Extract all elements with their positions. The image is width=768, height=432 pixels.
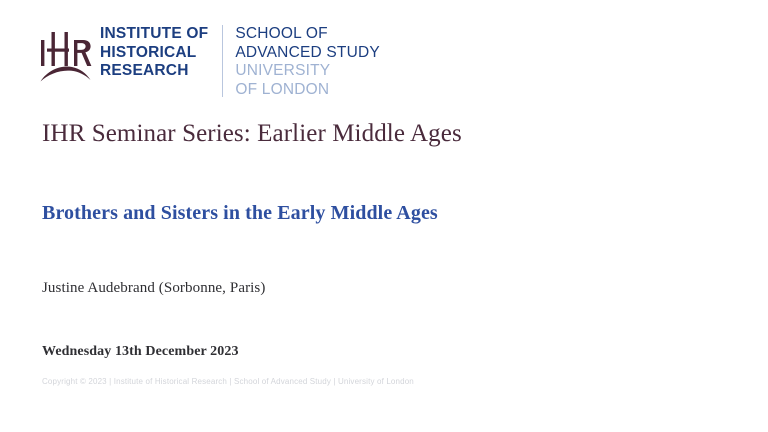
- institute-line-2: HISTORICAL: [100, 44, 208, 63]
- school-line-1: SCHOOL OF: [235, 25, 380, 44]
- ihr-monogram-icon: [38, 26, 94, 86]
- logo-divider: [222, 25, 223, 97]
- logo-wordmarks: INSTITUTE OF HISTORICAL RESEARCH SCHOOL …: [100, 20, 380, 99]
- institute-line-1: INSTITUTE OF: [100, 25, 208, 44]
- talk-title: Brothers and Sisters in the Early Middle…: [42, 200, 438, 226]
- university-line-2: OF LONDON: [235, 81, 380, 100]
- school-wordmark: SCHOOL OF ADVANCED STUDY UNIVERSITY OF L…: [235, 20, 380, 99]
- institute-wordmark: INSTITUTE OF HISTORICAL RESEARCH: [100, 20, 208, 99]
- seminar-series-title: IHR Seminar Series: Earlier Middle Ages: [42, 119, 462, 149]
- copyright-notice: Copyright © 2023 | Institute of Historic…: [42, 376, 414, 387]
- school-line-2: ADVANCED STUDY: [235, 44, 380, 63]
- presentation-slide: INSTITUTE OF HISTORICAL RESEARCH SCHOOL …: [0, 0, 768, 432]
- event-date: Wednesday 13th December 2023: [42, 342, 239, 361]
- university-line-1: UNIVERSITY: [235, 62, 380, 81]
- speaker-name-affiliation: Justine Audebrand (Sorbonne, Paris): [42, 278, 265, 298]
- institute-line-3: RESEARCH: [100, 62, 208, 81]
- ihr-sas-logo-lockup: INSTITUTE OF HISTORICAL RESEARCH SCHOOL …: [38, 20, 380, 104]
